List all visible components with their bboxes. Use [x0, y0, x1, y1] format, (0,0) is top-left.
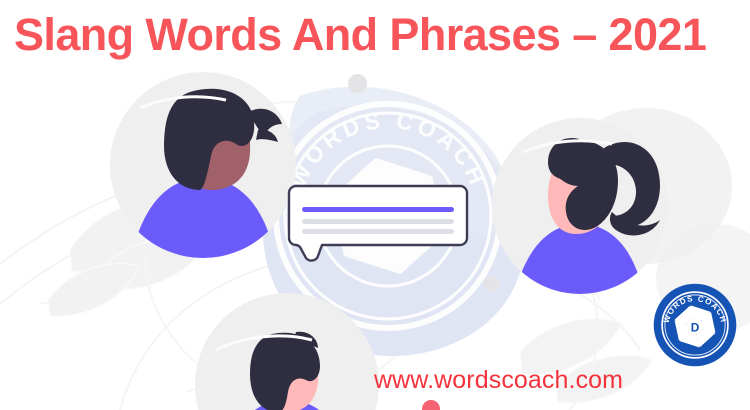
speech-bubble[interactable]: [0, 0, 750, 410]
logo-center-letter: D: [691, 320, 700, 334]
words-coach-logo-badge[interactable]: WORDS COACH D: [653, 283, 737, 367]
page-title: Slang Words And Phrases – 2021: [14, 8, 750, 61]
site-url-text: www.wordscoach.com: [374, 366, 623, 395]
bubble-line-1: [302, 219, 454, 224]
banner-image: WORDS COACH D: [0, 0, 750, 410]
bubble-line-highlight: [302, 207, 454, 212]
bubble-line-2: [302, 229, 454, 234]
